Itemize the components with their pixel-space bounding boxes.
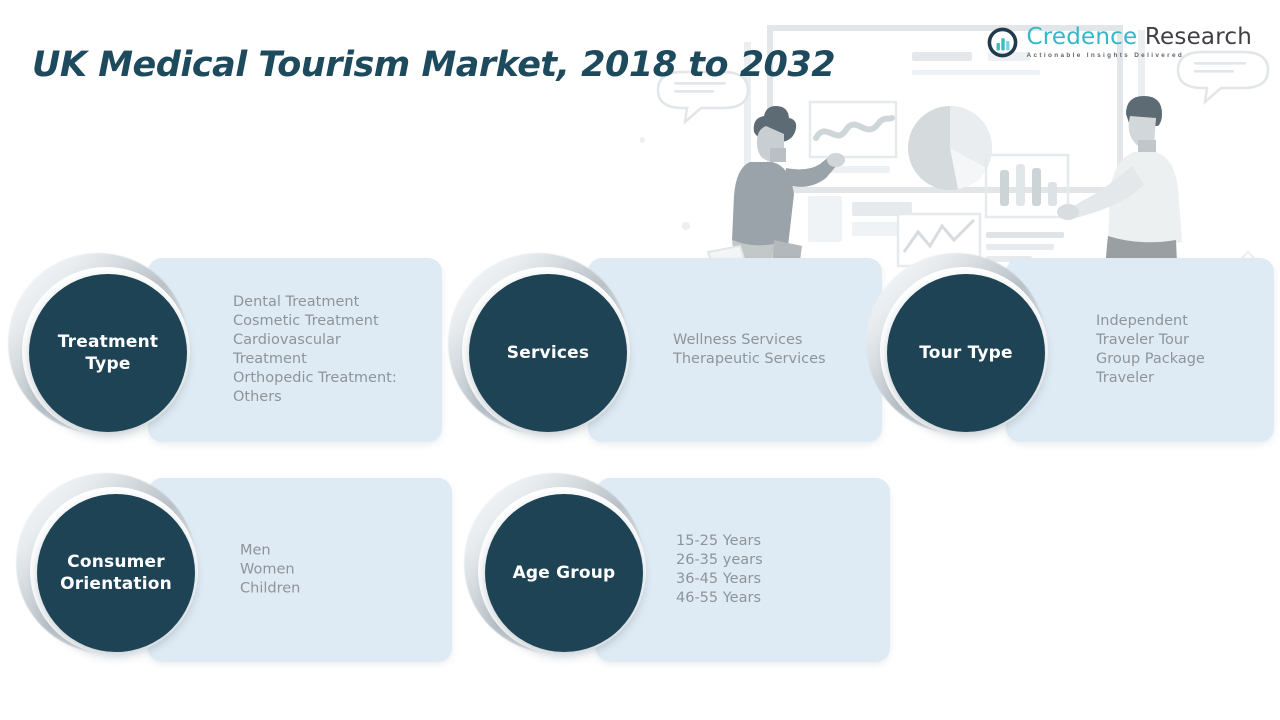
segment-items: 15-25 Years 26-35 years 36-45 Years 46-5… [676,532,763,608]
segment-row-top: Dental Treatment Cosmetic Treatment Card… [0,236,1280,462]
placeholder-line [816,166,890,173]
segment-row-bottom: Men Women Children Consumer Orientation … [0,456,1280,682]
segment-treatment-type[interactable]: Dental Treatment Cosmetic Treatment Card… [0,236,442,462]
segment-items: Men Women Children [240,542,300,599]
badge-disc[interactable]: Treatment Type [29,274,187,432]
segment-badge[interactable]: Consumer Orientation [16,473,212,669]
segment-badge[interactable]: Treatment Type [8,253,204,449]
segment-badge[interactable]: Tour Type [866,253,1062,449]
placeholder-line [912,70,1040,75]
segment-services[interactable]: Wellness Services Therapeutic Services S… [440,236,882,462]
badge-disc[interactable]: Consumer Orientation [37,494,195,652]
logo-tagline: Actionable Insights Delivered [1026,53,1252,59]
pie-chart [908,106,992,190]
line-chart-panel [810,102,896,157]
segment-label: Services [497,342,599,364]
segment-items: Wellness Services Therapeutic Services [673,331,826,369]
segment-tour-type[interactable]: Independent Traveler Tour Group Package … [858,236,1278,462]
segment-badge[interactable]: Services [448,253,644,449]
badge-disc[interactable]: Services [469,274,627,432]
infographic-canvas: UK Medical Tourism Market, 2018 to 2032 … [0,0,1280,720]
segment-consumer-orientation[interactable]: Men Women Children Consumer Orientation [0,456,452,682]
placeholder-block [852,222,912,236]
badge-disc[interactable]: Tour Type [887,274,1045,432]
segment-label: Treatment Type [48,331,169,375]
badge-disc[interactable]: Age Group [485,494,643,652]
bar-chart-panel [986,155,1068,217]
segment-label: Consumer Orientation [50,551,182,595]
segment-items: Independent Traveler Tour Group Package … [1096,312,1205,388]
segment-items: Dental Treatment Cosmetic Treatment Card… [233,293,397,407]
logo-name-secondary: Research [1145,24,1252,50]
segment-label: Age Group [503,562,626,584]
placeholder-bar [912,52,972,61]
segment-age-group[interactable]: 15-25 Years 26-35 years 36-45 Years 46-5… [448,456,890,682]
segment-label: Tour Type [909,342,1023,364]
segment-badge[interactable]: Age Group [464,473,660,669]
page-title: UK Medical Tourism Market, 2018 to 2032 [32,45,835,85]
bar-chart-circle-icon [986,26,1019,59]
decor-dot [640,137,645,143]
decor-dot [682,222,690,230]
logo-name-primary: Credence [1026,24,1137,50]
placeholder-block [852,202,912,216]
logo-name: Credence Research [1026,26,1252,49]
logo-text: Credence Research Actionable Insights De… [1026,26,1252,59]
brand-logo[interactable]: Credence Research Actionable Insights De… [986,26,1252,59]
speech-bubble-right-icon [1178,52,1268,102]
